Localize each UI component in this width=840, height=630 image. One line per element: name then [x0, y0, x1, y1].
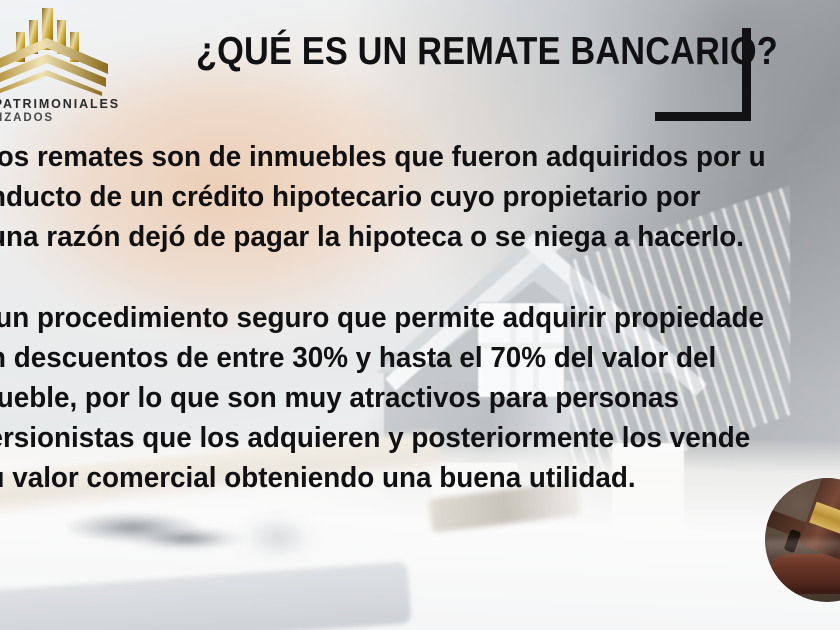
paragraph-2-line-4: versionistas que los adquieren y posteri… [0, 418, 836, 458]
bracket-vertical-bar [742, 28, 751, 121]
paragraph-1-line-2: onducto de un crédito hipotecario cuyo p… [0, 177, 836, 217]
bracket-horizontal-bar [655, 112, 751, 121]
paragraph-2-line-5: su valor comercial obteniendo una buena … [0, 458, 836, 498]
brand-logo: TORES PATRIMONIALES SPECIALIZADOS [0, 2, 132, 128]
paragraph-1-line-3: guna razón dejó de pagar la hipoteca o s… [0, 217, 836, 257]
corner-bracket-icon [655, 28, 751, 121]
paragraph-2-line-1: s un procedimiento seguro que permite ad… [0, 298, 836, 338]
logo-company-name: TORES PATRIMONIALES [0, 97, 120, 111]
paragraph-2-line-3: mueble, por lo que son muy atractivos pa… [0, 378, 836, 418]
paragraph-1-line-1: stos remates son de inmuebles que fueron… [0, 137, 836, 177]
building-chevron-logo-icon [0, 4, 112, 96]
logo-company-subtitle: SPECIALIZADOS [0, 112, 54, 124]
gavel-reflection [765, 540, 840, 560]
gavel-sound-block [771, 554, 840, 594]
body-copy: stos remates son de inmuebles que fueron… [0, 137, 840, 498]
paragraph-2-line-2: on descuentos de entre 30% y hasta el 70… [0, 338, 836, 378]
